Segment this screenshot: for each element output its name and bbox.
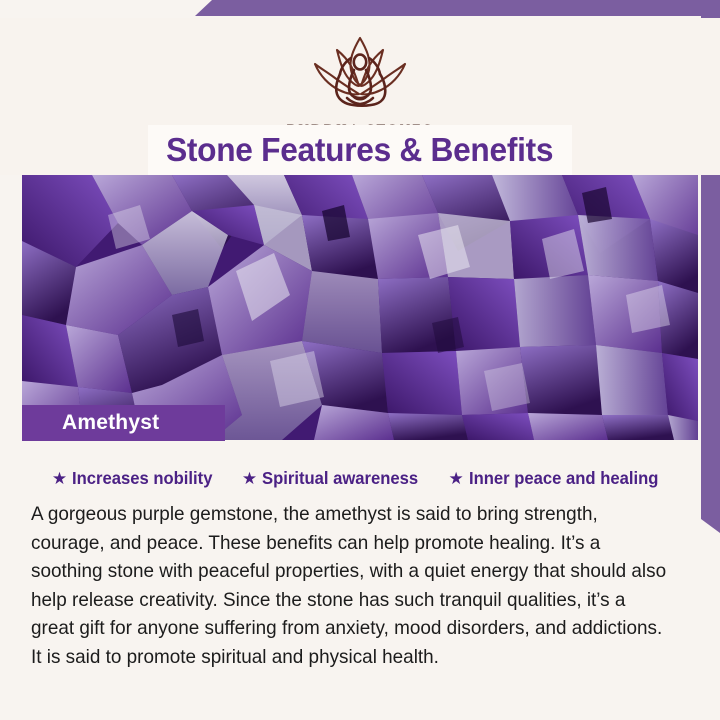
infographic-page: BUDDHA STONES Stone Features & Benefits (0, 0, 720, 720)
benefit-label: Spiritual awareness (262, 468, 418, 489)
star-icon: ★ (242, 470, 257, 487)
stone-description: A gorgeous purple gemstone, the amethyst… (31, 500, 671, 671)
top-purple-band (195, 0, 720, 16)
benefits-row: ★ Increases nobility ★ Spiritual awarene… (30, 468, 690, 489)
hero-image (22, 175, 698, 440)
benefit-label: Increases nobility (72, 468, 212, 489)
star-icon: ★ (449, 470, 464, 487)
benefit-item: ★ Spiritual awareness (242, 468, 427, 489)
page-title: Stone Features & Benefits (166, 131, 553, 169)
stone-name-label: Amethyst (62, 411, 159, 435)
benefit-item: ★ Increases nobility (52, 468, 220, 489)
title-plate: Stone Features & Benefits (148, 125, 572, 175)
star-icon: ★ (52, 470, 67, 487)
lotus-meditation-icon (285, 28, 435, 120)
brand-logo: BUDDHA STONES (0, 28, 720, 139)
stone-name-tag: Amethyst (22, 405, 225, 441)
benefit-label: Inner peace and healing (469, 468, 658, 489)
benefit-item: ★ Inner peace and healing (449, 468, 669, 489)
amethyst-crystal-cluster-graphic (22, 175, 698, 440)
